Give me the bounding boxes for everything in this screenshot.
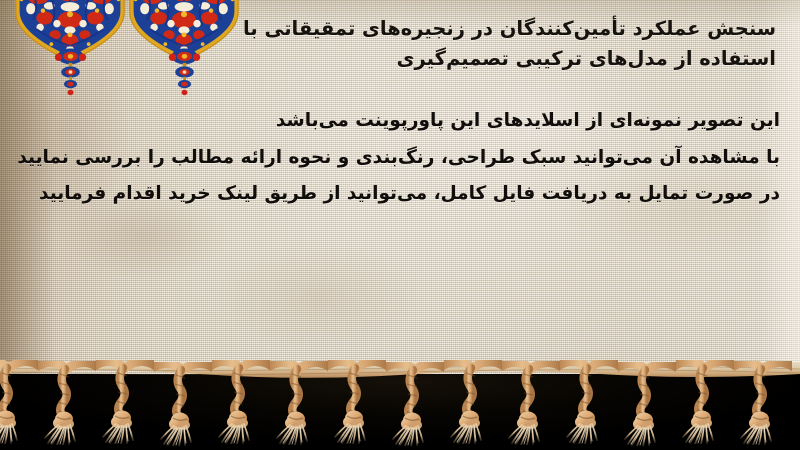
slide-canvas: سنجش عملکرد تأمین‌کنندگان در زنجیره‌های … [0,0,800,450]
carpet-fringe-svg [0,360,800,450]
slide-title: سنجش عملکرد تأمین‌کنندگان در زنجیره‌های … [216,14,776,73]
carpet-fringe [0,360,800,450]
slide-body-line-1: این تصویر نمونه‌ای از اسلایدهای این پاور… [10,112,780,131]
slide-text-layer: سنجش عملکرد تأمین‌کنندگان در زنجیره‌های … [0,0,800,382]
slide-title-line-1: سنجش عملکرد تأمین‌کنندگان در زنجیره‌های … [243,17,776,40]
slide-title-line-2: استفاده از مدل‌های ترکیبی تصمیم‌گیری [397,47,776,70]
tassel-row [0,361,794,446]
slide-body-line-3: در صورت تمایل به دریافت فایل کامل، می‌تو… [10,185,780,204]
slide-body-line-2: با مشاهده آن می‌توانید سبک طراحی، رنگ‌بن… [10,149,780,168]
slide-body: این تصویر نمونه‌ای از اسلایدهای این پاور… [10,112,780,204]
